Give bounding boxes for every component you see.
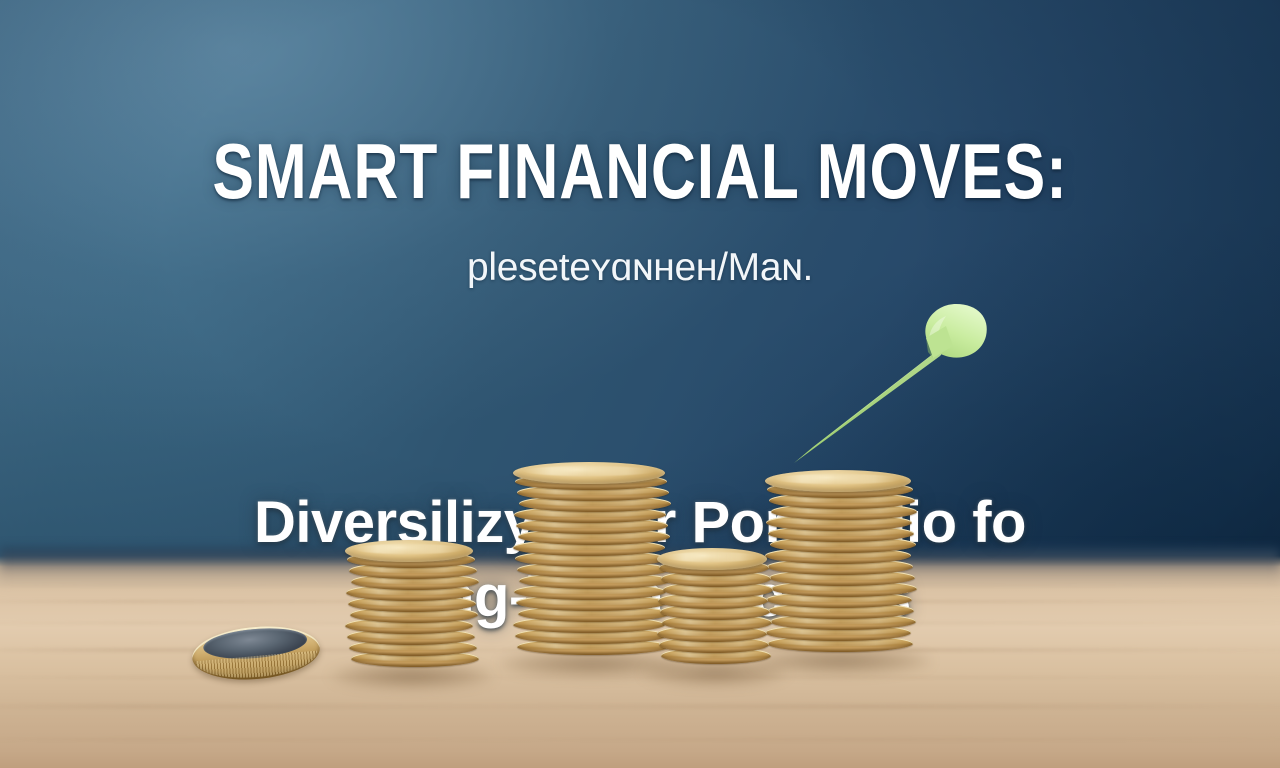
coin: [765, 470, 911, 492]
coin: [513, 462, 665, 484]
page-subtitle: pleseteʏɑɴнeʜ/Maɴ.: [0, 245, 1280, 291]
wood-grain-line: [0, 738, 1280, 741]
banner-image: SMART FINANCIAL MOVES: pleseteʏɑɴнeʜ/Maɴ…: [0, 0, 1280, 768]
page-title: SMART FINANCIAL MOVES:: [128, 128, 1152, 214]
stack-2: [516, 462, 668, 665]
wood-grain-line: [0, 704, 1280, 709]
wood-grain-line: [0, 676, 1280, 679]
coin: [657, 548, 767, 570]
coin: [345, 540, 473, 562]
stack-1: [348, 540, 476, 677]
stack-3: [660, 548, 770, 674]
stack-4: [768, 470, 914, 662]
